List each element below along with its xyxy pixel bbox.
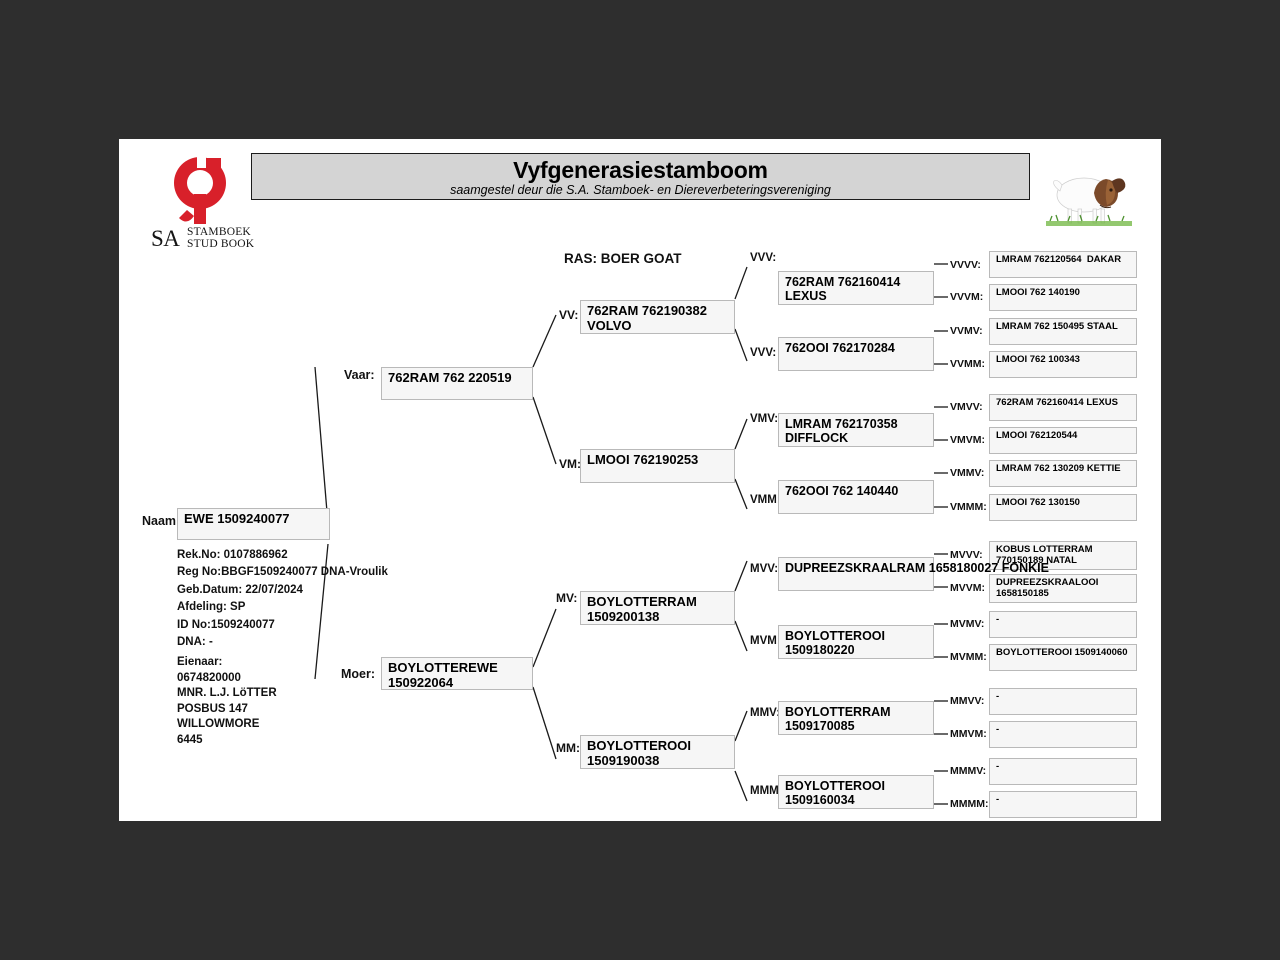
box-vaar[interactable]: 762RAM 762 220519: [381, 367, 533, 400]
subject-name-box[interactable]: EWE 1509240077: [177, 508, 330, 540]
label-mvm: MVM:: [750, 635, 781, 647]
subject-name-label: Naam:: [142, 514, 180, 528]
box-mvmm[interactable]: BOYLOTTEROOI 1509140060: [989, 644, 1137, 671]
breed-label: RAS: BOER GOAT: [564, 251, 682, 266]
label-vvmv: VVMV:: [950, 325, 983, 337]
label-mmv: MMV:: [750, 707, 780, 719]
label-mmvm: MMVM:: [950, 728, 987, 740]
label-vmvv: VMVV:: [950, 401, 983, 413]
box-vv[interactable]: 762RAM 762190382 VOLVO: [580, 300, 735, 334]
label-vm: VM:: [559, 457, 581, 471]
box-mvm[interactable]: BOYLOTTEROOI 1509180220: [778, 625, 934, 659]
box-vvvv[interactable]: LMRAM 762120564 DAKAR: [989, 251, 1137, 278]
label-vvv: VVV:: [750, 252, 776, 264]
boer-goat-illustration: [1038, 155, 1143, 230]
box-mmv[interactable]: BOYLOTTERRAM 1509170085: [778, 701, 934, 735]
page-subtitle: saamgestel deur die S.A. Stamboek- en Di…: [252, 183, 1029, 197]
document-title-bar: Vyfgenerasiestamboom saamgestel deur die…: [251, 153, 1030, 200]
label-vmmm: VMMM:: [950, 501, 987, 513]
label-mm: MM:: [556, 741, 580, 755]
label-mvvv: MVVV:: [950, 549, 983, 561]
label-mvvm: MVVM:: [950, 582, 985, 594]
label-mmmm: MMMM:: [950, 798, 988, 810]
box-vmvv[interactable]: 762RAM 762160414 LEXUS: [989, 394, 1137, 421]
box-vmv[interactable]: LMRAM 762170358 DIFFLOCK: [778, 413, 934, 447]
label-vaar: Vaar:: [344, 368, 375, 382]
label-vmmv: VMMV:: [950, 467, 984, 479]
label-mvv: MVV:: [750, 563, 778, 575]
box-vvmv[interactable]: LMRAM 762 150495 STAAL: [989, 318, 1137, 345]
box-vmvm[interactable]: LMOOI 762120544: [989, 427, 1137, 454]
subject-details: Rek.No: 0107886962 Reg No:BBGF1509240077…: [177, 547, 392, 652]
label-vvvm: VVVM:: [950, 291, 983, 303]
box-mmmv[interactable]: -: [989, 758, 1137, 785]
label-mmvv: MMVV:: [950, 695, 984, 707]
box-vmmm[interactable]: LMOOI 762 130150: [989, 494, 1137, 521]
box-mmmm[interactable]: -: [989, 791, 1137, 818]
box-mvmv[interactable]: -: [989, 611, 1137, 638]
label-mv: MV:: [556, 591, 577, 605]
box-vvmm[interactable]: LMOOI 762 100343: [989, 351, 1137, 378]
label-vmm: VMM:: [750, 494, 781, 506]
box-vvvm[interactable]: LMOOI 762 140190: [989, 284, 1137, 311]
sa-logo-mark: [167, 154, 235, 226]
label-vvvv: VVVV:: [950, 259, 981, 271]
box-mmvm[interactable]: -: [989, 721, 1137, 748]
goat-icon: [1038, 155, 1143, 230]
label-moer: Moer:: [341, 667, 375, 681]
label-vmv: VMV:: [750, 413, 778, 425]
label-mvmv: MVMV:: [950, 618, 984, 630]
page-title: Vyfgenerasiestamboom: [252, 157, 1029, 184]
box-vm[interactable]: LMOOI 762190253: [580, 449, 735, 483]
box-mv[interactable]: BOYLOTTERRAM 1509200138: [580, 591, 735, 625]
label-vmvm: VMVM:: [950, 434, 985, 446]
label-vvm: VVV:: [750, 347, 776, 359]
label-vvmm: VVMM:: [950, 358, 985, 370]
logo-sa-text: SA: [151, 226, 179, 252]
label-mmmv: MMMV:: [950, 765, 986, 777]
box-mmm[interactable]: BOYLOTTEROOI 1509160034: [778, 775, 934, 809]
box-vvv[interactable]: 762RAM 762160414 LEXUS: [778, 271, 934, 305]
box-mvv[interactable]: DUPREEZSKRAALRAM 1658180027 FONKIE: [778, 557, 934, 591]
box-vvm[interactable]: 762OOI 762170284: [778, 337, 934, 371]
logo-stud-book-text: STAMBOEKSTUD BOOK: [187, 226, 254, 250]
label-vv: VV:: [559, 308, 578, 322]
box-mmvv[interactable]: -: [989, 688, 1137, 715]
pedigree-document: SA STAMBOEKSTUD BOOK Vyfgenerasiestamboo…: [119, 139, 1161, 821]
box-mvvm[interactable]: DUPREEZSKRAALOOI 1658150185: [989, 574, 1137, 603]
box-mm[interactable]: BOYLOTTEROOI 1509190038: [580, 735, 735, 769]
box-vmmv[interactable]: LMRAM 762 130209 KETTIE: [989, 460, 1137, 487]
box-vmm[interactable]: 762OOI 762 140440: [778, 480, 934, 514]
sa-stamboek-logo: SA STAMBOEKSTUD BOOK: [147, 152, 257, 257]
label-mvmm: MVMM:: [950, 651, 987, 663]
box-moer[interactable]: BOYLOTTEREWE 150922064: [381, 657, 533, 690]
